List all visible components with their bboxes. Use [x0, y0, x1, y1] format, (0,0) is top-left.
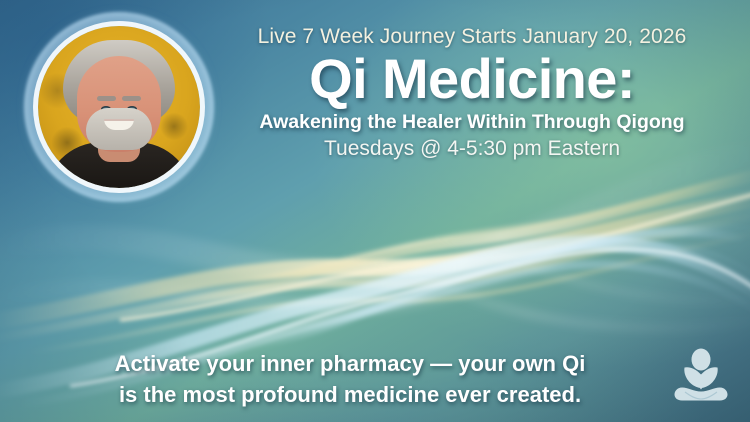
tagline-block: Activate your inner pharmacy — your own … [60, 348, 640, 410]
tagline-line-2: is the most profound medicine ever creat… [60, 379, 640, 410]
course-schedule: Tuesdays @ 4-5:30 pm Eastern [212, 135, 732, 163]
headline-block: Live 7 Week Journey Starts January 20, 2… [212, 24, 732, 163]
tagline-line-1: Activate your inner pharmacy — your own … [60, 348, 640, 379]
page-title: Qi Medicine: [212, 48, 732, 110]
promo-banner: Live 7 Week Journey Starts January 20, 2… [0, 0, 750, 422]
instructor-portrait [38, 26, 200, 188]
portrait-ring-border [38, 26, 200, 188]
course-subtitle: Awakening the Healer Within Through Qigo… [212, 109, 732, 135]
lotus-meditation-logo-icon [668, 344, 734, 410]
